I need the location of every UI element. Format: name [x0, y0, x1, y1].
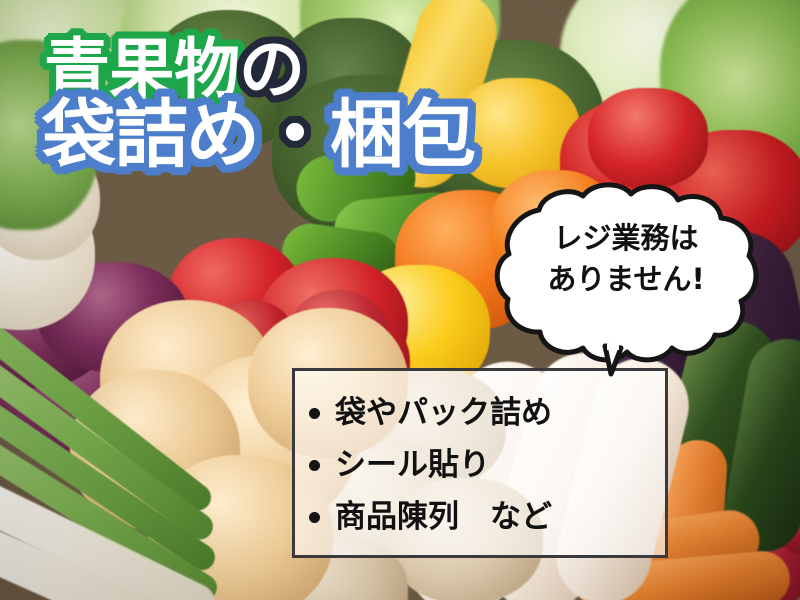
task-list-panel: 袋やパック詰め シール貼り 商品陳列 など: [292, 368, 668, 558]
speech-bubble: レジ業務は ありません!: [495, 188, 757, 368]
speech-bubble-line-1: レジ業務は: [495, 218, 757, 259]
page-title: 青果物の 袋詰め・梱包: [44, 38, 474, 171]
title-line-2-part1: 袋詰め: [42, 99, 258, 172]
title-line-2: 袋詰め・梱包: [42, 99, 474, 172]
bullet-dot-icon: [309, 512, 320, 523]
speech-bubble-text: レジ業務は ありません!: [495, 218, 757, 300]
bullet-dot-icon: [309, 460, 320, 471]
poster-root: 青果物の 袋詰め・梱包 袋やパック詰め シール貼り 商品陳列 など: [0, 0, 800, 600]
list-item-label: 商品陳列 など: [335, 502, 552, 533]
title-line-2-separator: ・: [258, 99, 330, 172]
bullet-dot-icon: [309, 408, 320, 419]
list-item: 商品陳列 など: [309, 491, 665, 543]
list-item: シール貼り: [309, 439, 665, 491]
speech-bubble-line-2: ありません!: [495, 259, 757, 300]
list-item: 袋やパック詰め: [309, 387, 665, 439]
task-list: 袋やパック詰め シール貼り 商品陳列 など: [295, 371, 665, 543]
list-item-label: シール貼り: [335, 450, 490, 481]
title-line-2-part2: 梱包: [330, 99, 474, 172]
list-item-label: 袋やパック詰め: [335, 398, 552, 429]
